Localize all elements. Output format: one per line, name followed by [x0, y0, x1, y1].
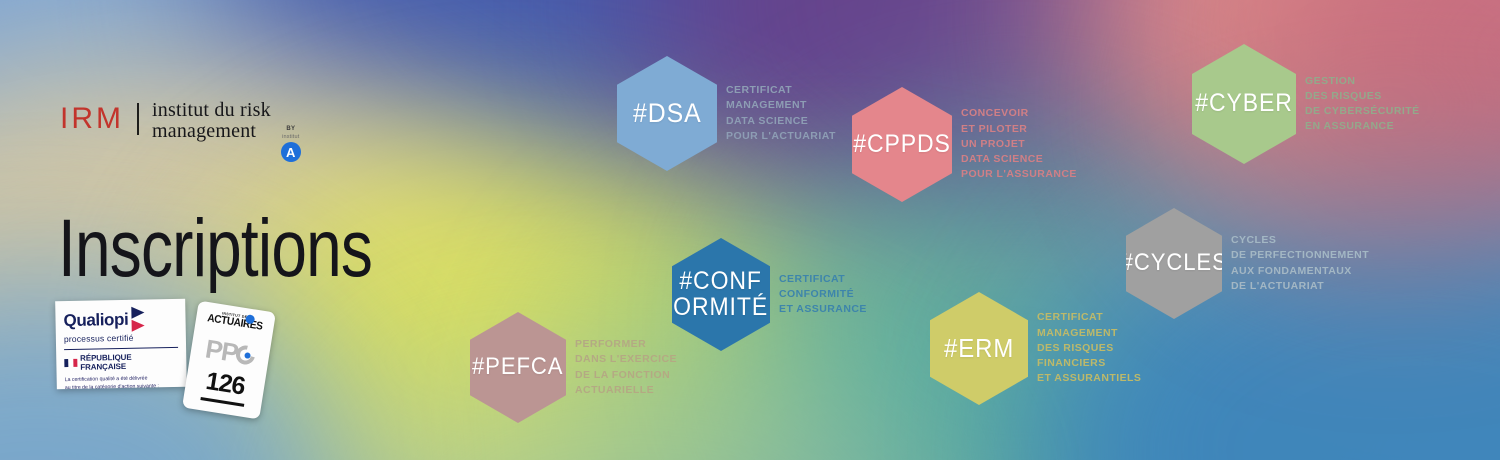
qualiopi-arrows-icon [131, 307, 144, 332]
program-tile-cyber[interactable]: #CYBERGESTION DES RISQUES DE CYBERSÉCURI… [1192, 44, 1420, 164]
promo-banner: IRM institut du risk management BY insti… [0, 0, 1500, 460]
program-tile-cycles[interactable]: #CYCLESCYCLES DE PERFECTIONNEMENT AUX FO… [1126, 208, 1369, 319]
irm-logo-line1: institut du risk [152, 100, 271, 121]
hexagon-label-pefca: #PEFCA [472, 355, 563, 379]
hexagon-shape-cppds[interactable]: #CPPDS [852, 87, 952, 202]
hexagon-label-cppds: #CPPDS [853, 132, 951, 158]
hexagon-label-conformite: #CONF ORMITÉ [674, 269, 769, 320]
hexagon-shape-dsa[interactable]: #DSA [617, 56, 717, 171]
irm-logo-divider [137, 103, 139, 135]
hexagon-description-erm: CERTIFICAT MANAGEMENT DES RISQUES FINANC… [1037, 310, 1141, 386]
irm-logo-line2: management [152, 121, 271, 142]
hexagon-description-pefca: PERFORMER DANS L'EXERCICE DE LA FONCTION… [575, 337, 677, 398]
program-tile-cppds[interactable]: #CPPDSCONCEVOIR ET PILOTER UN PROJET DAT… [852, 87, 1077, 202]
french-flag-icon [64, 359, 77, 367]
hexagon-label-dsa: #DSA [633, 100, 702, 128]
program-tile-conformite[interactable]: #CONF ORMITÉCERTIFICAT CONFORMITÉ ET ASS… [672, 238, 867, 351]
ppc-code-label: PP [204, 335, 239, 366]
qualiopi-header: Qualiopi [63, 306, 177, 333]
hexagon-shape-cyber[interactable]: #CYBER [1192, 44, 1296, 164]
ppc-header: INSTITUT DES ACTUAIRES [201, 308, 269, 333]
irm-logo-mark: IRM [60, 100, 124, 134]
irm-by-institut: BY institut A [269, 126, 313, 162]
hexagon-label-cyber: #CYBER [1195, 91, 1293, 117]
hexagon-description-cyber: GESTION DES RISQUES DE CYBERSÉCURITÉ EN … [1305, 74, 1420, 135]
program-tile-erm[interactable]: #ERMCERTIFICAT MANAGEMENT DES RISQUES FI… [930, 292, 1141, 405]
qualiopi-wordmark: Qualiopi [63, 311, 128, 329]
qualiopi-note: La certification qualité a été délivrée … [65, 375, 179, 389]
program-tile-pefca[interactable]: #PEFCAPERFORMER DANS L'EXERCICE DE LA FO… [470, 312, 677, 423]
by-institut-label: institut [269, 134, 313, 140]
hexagon-shape-conformite[interactable]: #CONF ORMITÉ [672, 238, 770, 351]
hexagon-description-dsa: CERTIFICAT MANAGEMENT DATA SCIENCE POUR … [726, 83, 836, 144]
ppc-number: 126 [204, 369, 246, 400]
by-label: BY [269, 126, 313, 133]
hexagon-description-conformite: CERTIFICAT CONFORMITÉ ET ASSURANCE [779, 272, 867, 318]
qualiopi-certification-badge: Qualiopi processus certifié RÉPUBLIQUE F… [55, 299, 187, 389]
qualiopi-tagline: processus certifié [64, 332, 178, 344]
ppc-certification-badge: INSTITUT DES ACTUAIRES PP 126 [182, 301, 276, 420]
hexagon-label-erm: #ERM [944, 335, 1014, 362]
irm-logo[interactable]: IRM institut du risk management BY insti… [60, 100, 311, 142]
hexagon-shape-erm[interactable]: #ERM [930, 292, 1028, 405]
hexagon-description-cycles: CYCLES DE PERFECTIONNEMENT AUX FONDAMENT… [1231, 233, 1369, 294]
actuaires-a-icon: A [281, 142, 301, 162]
hexagon-label-cycles: #CYCLES [1120, 251, 1227, 275]
hexagon-shape-pefca[interactable]: #PEFCA [470, 312, 566, 423]
ppc-code-row: PP [204, 335, 257, 368]
page-title: Inscriptions [58, 208, 372, 290]
qualiopi-republic-row: RÉPUBLIQUE FRANÇAISE [64, 347, 178, 372]
irm-logo-wordmark: institut du risk management BY institut … [152, 100, 311, 142]
hexagon-description-cppds: CONCEVOIR ET PILOTER UN PROJET DATA SCIE… [961, 106, 1077, 182]
qualiopi-republic-label: RÉPUBLIQUE FRANÇAISE [80, 352, 178, 372]
program-tile-dsa[interactable]: #DSACERTIFICAT MANAGEMENT DATA SCIENCE P… [617, 56, 836, 171]
